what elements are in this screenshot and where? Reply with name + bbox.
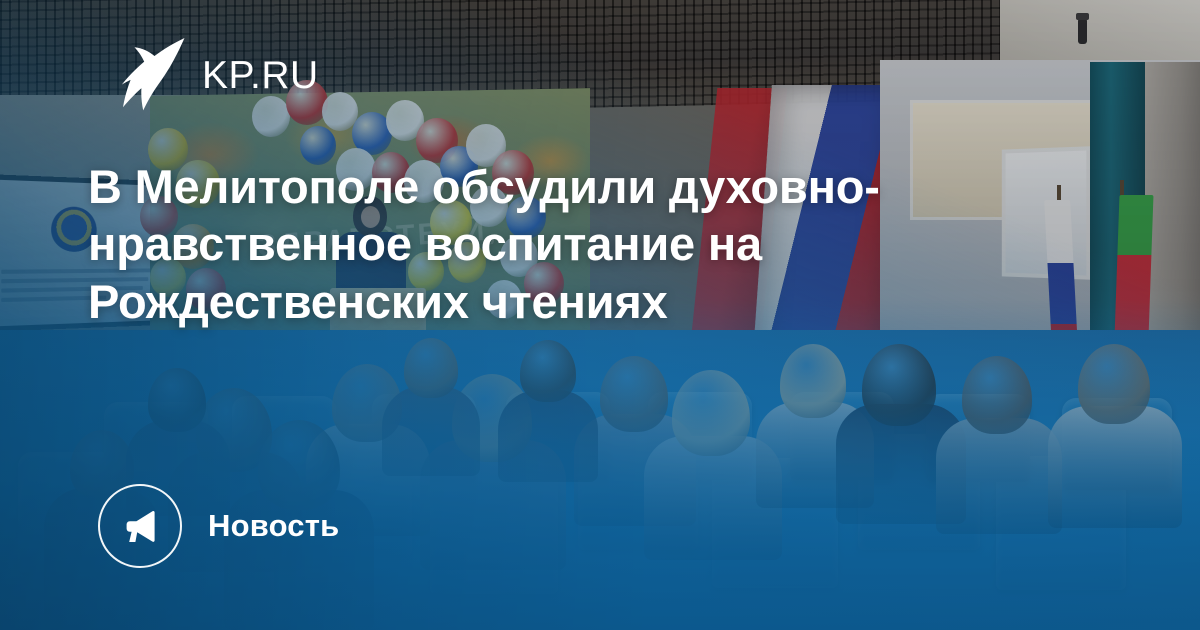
news-share-card: ЗДРАВСТВУЙ,: [0, 0, 1200, 630]
megaphone-icon: [98, 484, 182, 568]
page-title: В Мелитополе обсудили духовно-нравственн…: [88, 158, 1048, 330]
swallow-bird-icon: [110, 36, 186, 114]
news-badge[interactable]: Новость: [98, 484, 339, 568]
kp-wordmark: KP.RU: [202, 56, 319, 95]
kp-logo[interactable]: KP.RU: [110, 36, 319, 114]
badge-label: Новость: [208, 508, 339, 544]
